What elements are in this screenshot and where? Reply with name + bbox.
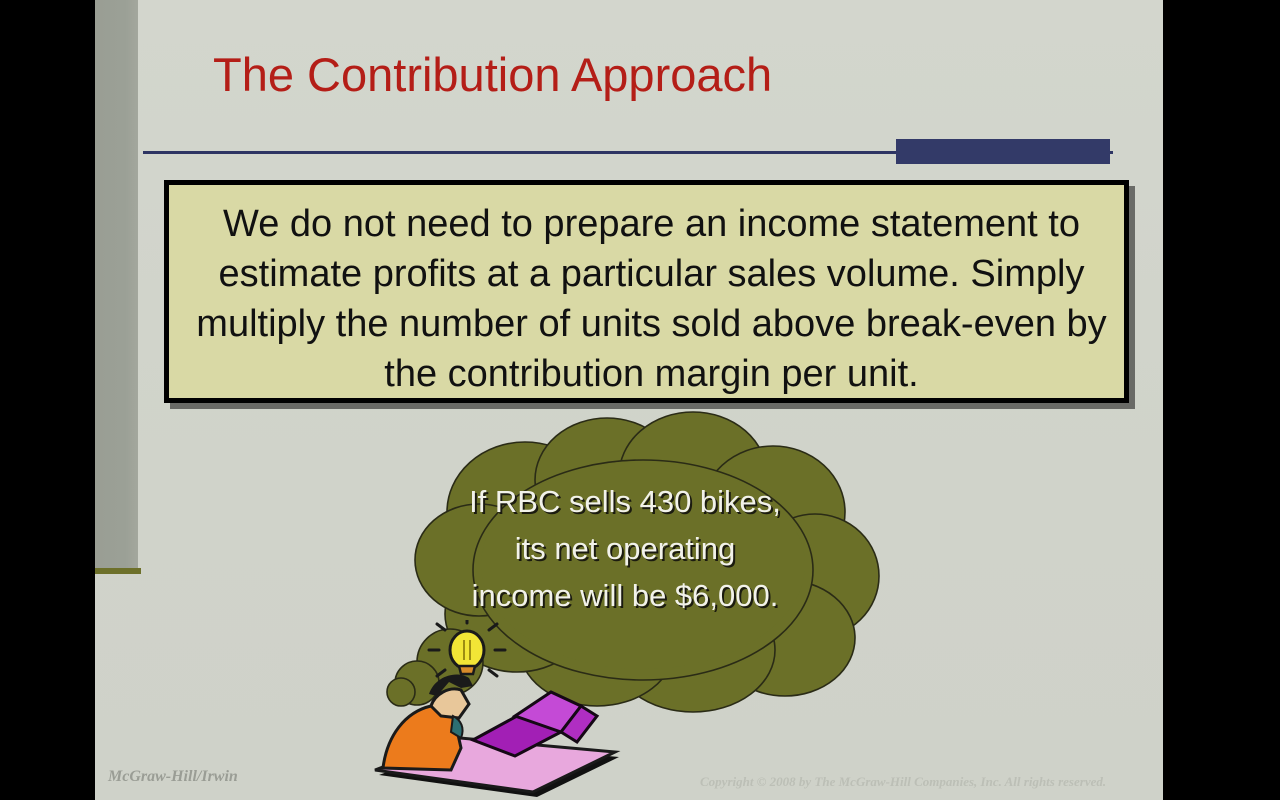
callout-box: We do not need to prepare an income stat… xyxy=(164,180,1129,403)
footer-brand: McGraw-Hill/Irwin xyxy=(108,768,238,786)
callout-text: We do not need to prepare an income stat… xyxy=(179,199,1124,399)
left-band-accent-stripe xyxy=(95,568,141,574)
left-decorative-band xyxy=(95,0,138,568)
lightbulb-icon xyxy=(429,620,505,676)
slide-title: The Contribution Approach xyxy=(213,47,1113,103)
thinking-person-clipart xyxy=(365,620,625,800)
title-accent-block xyxy=(896,139,1110,164)
presentation-slide: The Contribution Approach We do not need… xyxy=(95,0,1163,800)
laptop-icon xyxy=(473,692,597,756)
footer-copyright: Copyright © 2008 by The McGraw-Hill Comp… xyxy=(700,774,1106,790)
screen: The Contribution Approach We do not need… xyxy=(0,0,1280,800)
